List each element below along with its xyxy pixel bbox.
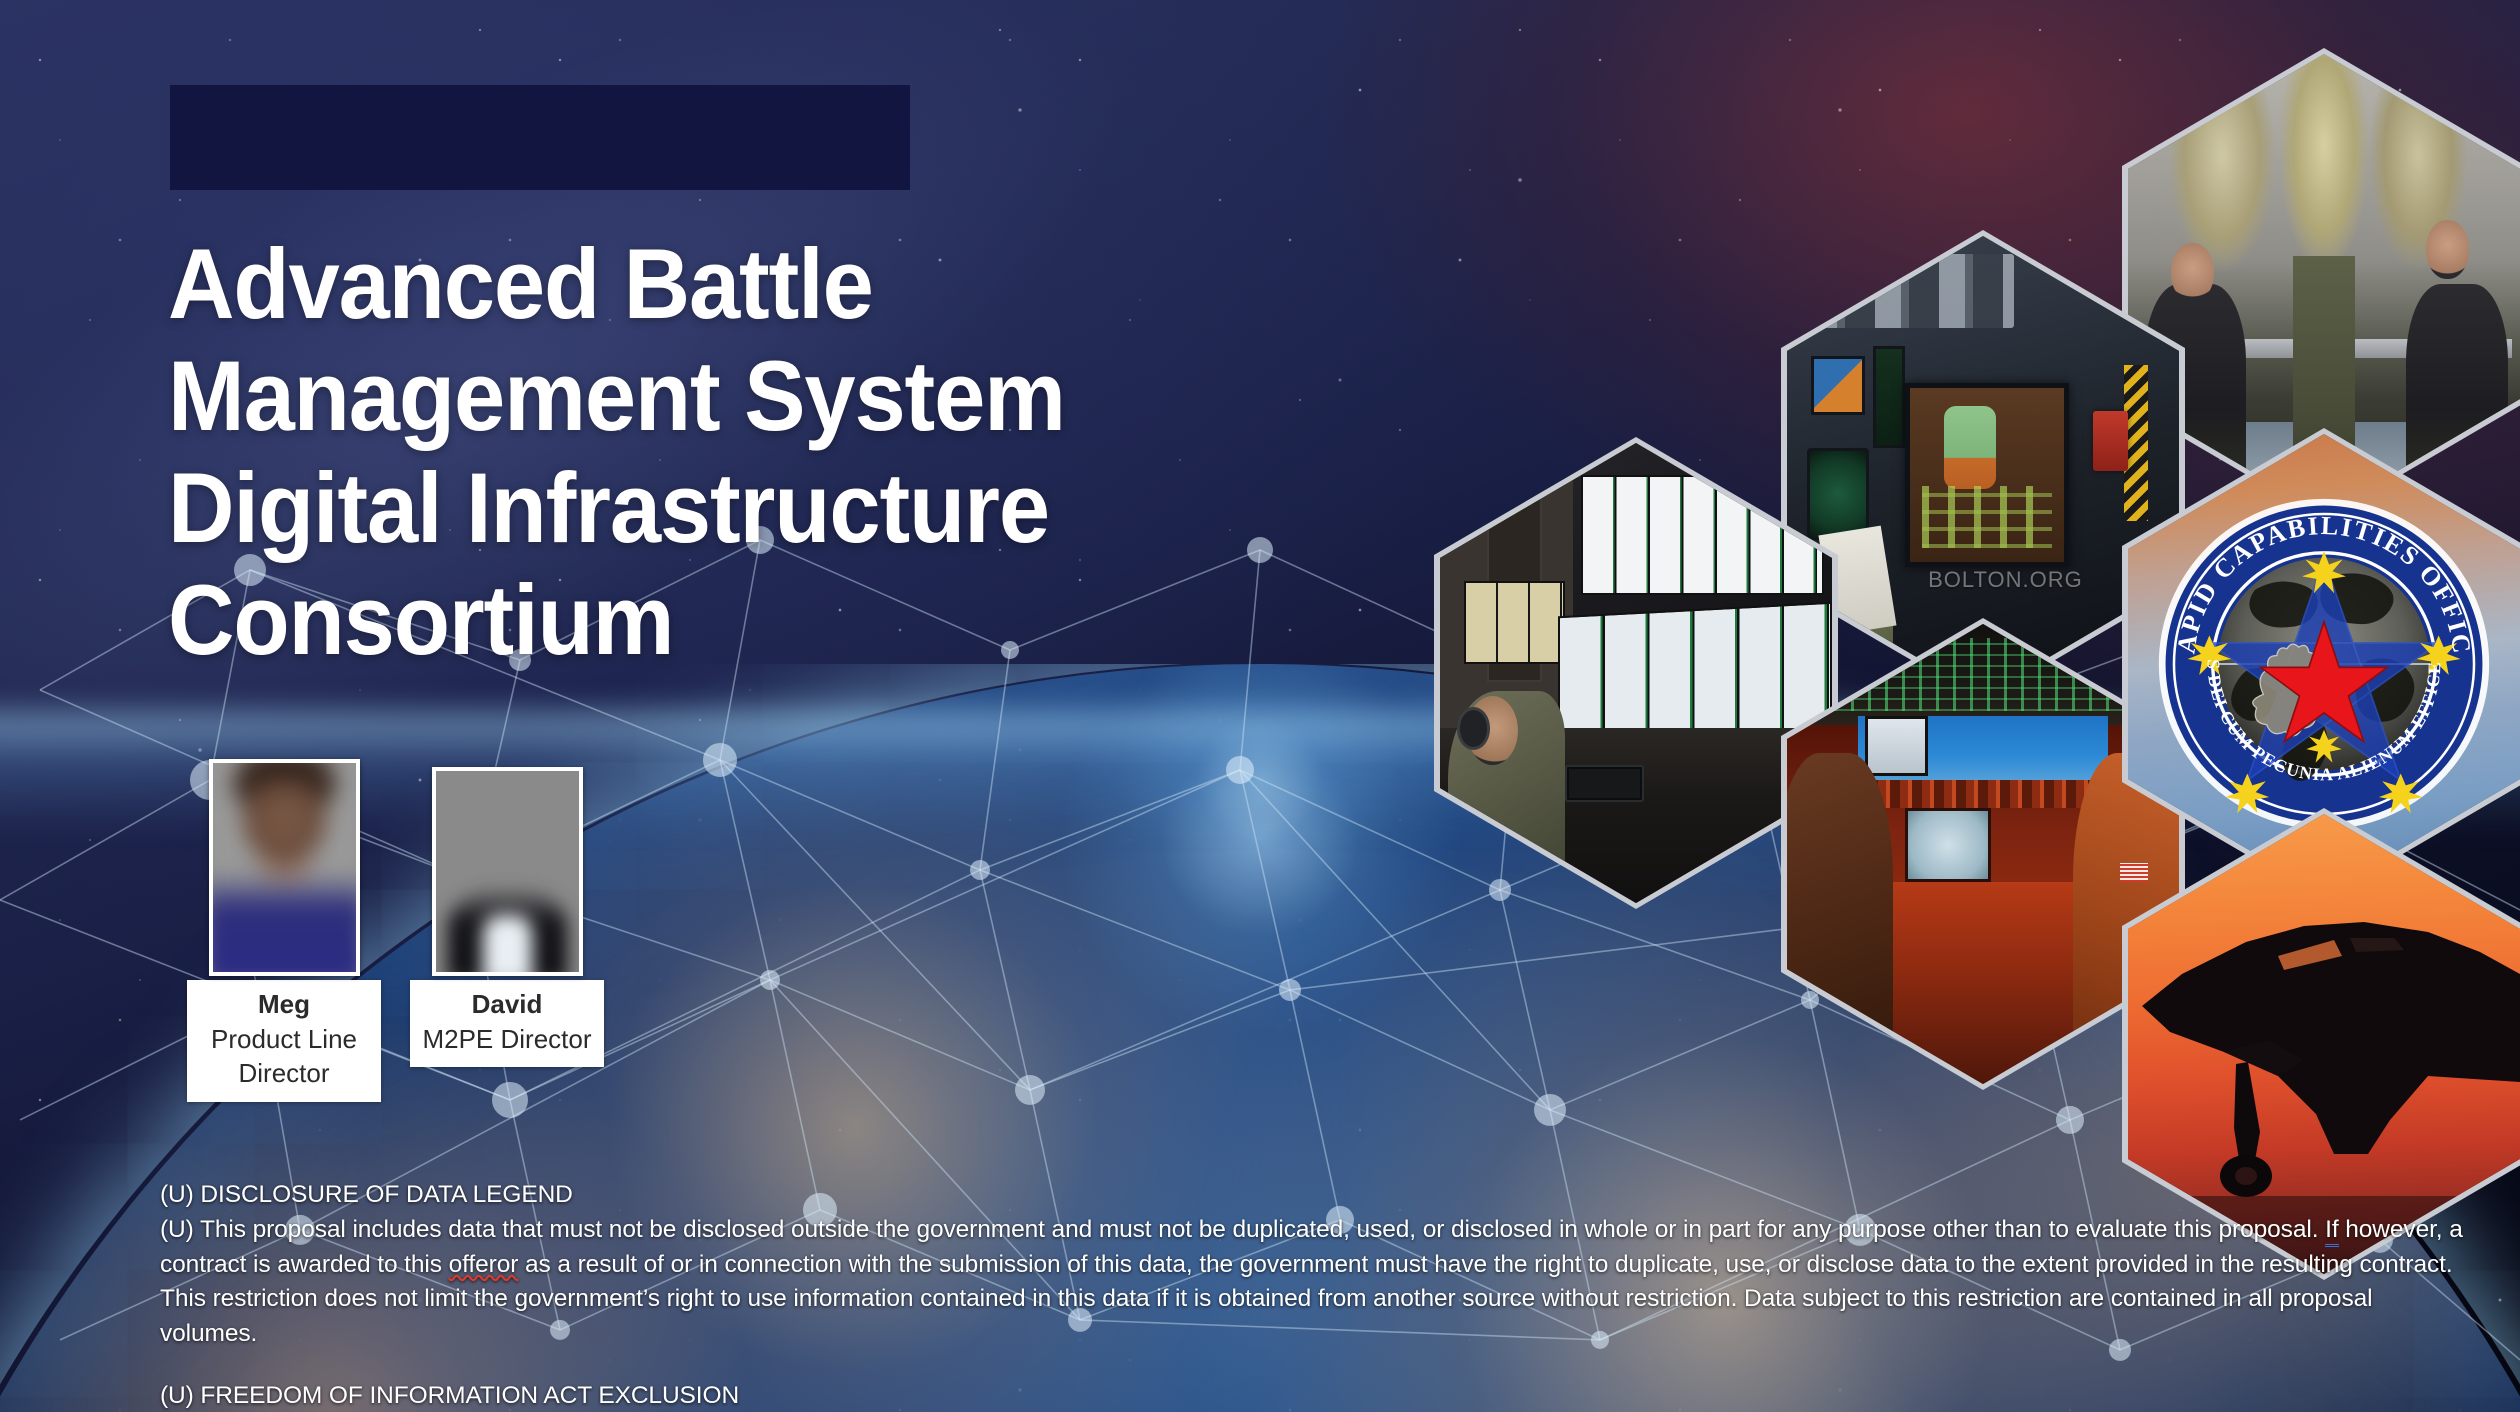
person-name: Meg xyxy=(197,987,371,1022)
hex-image-ops-center xyxy=(1440,443,1832,903)
person-role-line2: Director xyxy=(197,1056,371,1091)
hex-image-red-cockpit xyxy=(1787,624,2179,1084)
foia-header: (U) FREEDOM OF INFORMATION ACT EXCLUSION xyxy=(160,1379,2470,1412)
person-caption: Meg Product Line Director xyxy=(187,980,381,1102)
person-role-line1: M2PE Director xyxy=(420,1022,594,1057)
disclosure-legend: (U) DISCLOSURE OF DATA LEGEND (U) This p… xyxy=(160,1178,2470,1412)
rco-seal-icon: RAPID CAPABILITIES OFFICE OPUS DEI CUM P… xyxy=(2155,466,2492,862)
person-caption: David M2PE Director xyxy=(410,980,604,1067)
disclosure-text-1: (U) This proposal includes data that mus… xyxy=(160,1216,2325,1243)
person-card: Meg Product Line Director xyxy=(209,759,381,1102)
grammar-flagged-word: If xyxy=(2325,1216,2338,1247)
person-card: David M2PE Director xyxy=(432,767,604,1067)
avatar xyxy=(209,759,360,976)
avatar xyxy=(432,767,583,976)
spellcheck-flagged-word: offeror xyxy=(449,1251,519,1278)
person-name: David xyxy=(420,987,594,1022)
disclosure-header: (U) DISCLOSURE OF DATA LEGEND xyxy=(160,1178,2470,1213)
slide-canvas: Advanced Battle Management System Digita… xyxy=(0,0,2520,1412)
disclosure-body: (U) This proposal includes data that mus… xyxy=(160,1213,2470,1352)
person-role-line1: Product Line xyxy=(197,1022,371,1057)
